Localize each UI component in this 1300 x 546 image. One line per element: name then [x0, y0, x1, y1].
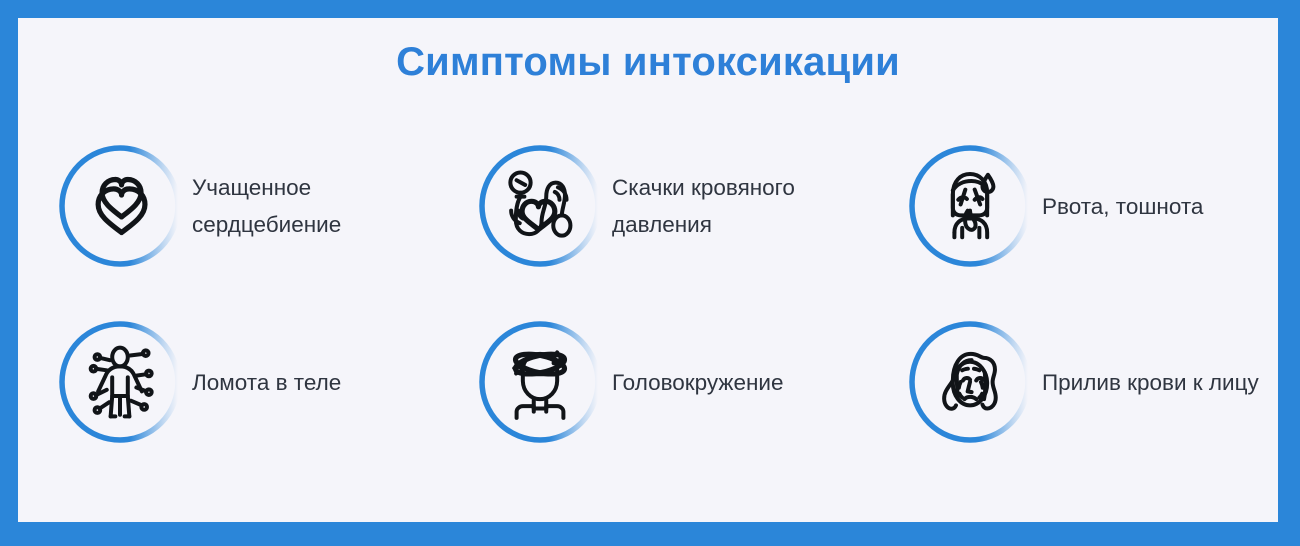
symptom-badge — [478, 320, 602, 444]
symptom-badge — [908, 320, 1032, 444]
symptom-item-dizziness: Головокружение — [478, 320, 908, 444]
symptom-label: Скачки кровяного давления — [612, 169, 857, 243]
page-title: Симптомы интоксикации — [18, 40, 1278, 85]
infographic-poster: Симптомы интоксикации — [0, 0, 1300, 546]
symptom-label: Прилив крови к лицу — [1042, 364, 1259, 401]
symptom-label: Учащенное сердцебиение — [192, 169, 437, 243]
nausea-person-icon — [931, 167, 1009, 245]
blood-pressure-monitor-icon — [501, 167, 579, 245]
symptom-label: Рвота, тошнота — [1042, 188, 1203, 225]
symptom-item-body-aches: Ломота в теле — [58, 320, 478, 444]
symptom-badge — [58, 320, 182, 444]
body-aches-icon — [81, 343, 159, 421]
symptom-badge — [478, 144, 602, 268]
poster-inner-panel: Симптомы интоксикации — [18, 18, 1278, 522]
flushed-face-icon — [931, 343, 1009, 421]
symptoms-grid: Учащенное сердцебиение — [58, 118, 1268, 470]
symptom-label: Ломота в теле — [192, 364, 341, 401]
symptom-badge — [908, 144, 1032, 268]
symptom-item-heartbeat: Учащенное сердцебиение — [58, 144, 478, 268]
dizziness-head-icon — [501, 343, 579, 421]
symptom-item-facial-flushing: Прилив крови к лицу — [908, 320, 1268, 444]
symptom-label: Головокружение — [612, 364, 784, 401]
double-heart-icon — [81, 167, 159, 245]
symptom-badge — [58, 144, 182, 268]
symptom-item-nausea: Рвота, тошнота — [908, 144, 1268, 268]
symptom-item-blood-pressure: Скачки кровяного давления — [478, 144, 908, 268]
